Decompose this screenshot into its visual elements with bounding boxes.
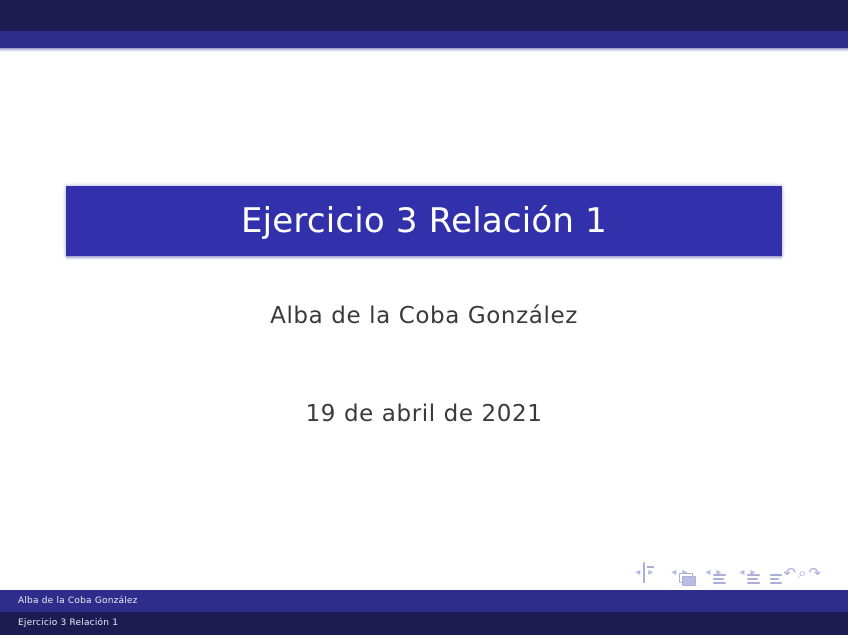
- subsection-navigation-group[interactable]: ◂ ▸: [702, 568, 724, 578]
- title-box: Ejercicio 3 Relación 1: [66, 186, 782, 256]
- back-icon[interactable]: ↶: [782, 566, 797, 581]
- footer-title-text: Ejercicio 3 Relación 1: [18, 618, 118, 628]
- title-box-shadow: [66, 256, 782, 260]
- beamer-navigation-symbols[interactable]: ◂ ▸ ◂ ▸ ◂ ▸ ◂ ▸ ↶ ⌕ ↷: [632, 563, 834, 583]
- slide-next-icon[interactable]: ▸: [645, 568, 656, 578]
- slide-icon[interactable]: [643, 565, 645, 581]
- frame-prev-icon[interactable]: ◂: [668, 568, 679, 578]
- frame-navigation-group[interactable]: ◂ ▸: [668, 568, 690, 578]
- presentation-date: 19 de abril de 2021: [0, 401, 848, 427]
- subsection-next-icon[interactable]: ▸: [713, 568, 724, 578]
- title-block: Ejercicio 3 Relación 1: [66, 186, 782, 258]
- page-title: Ejercicio 3 Relación 1: [66, 186, 782, 256]
- beamer-title-slide: Ejercicio 3 Relación 1 Alba de la Coba G…: [0, 0, 848, 635]
- slide-footer-bar: Alba de la Coba González Ejercicio 3 Rel…: [0, 590, 848, 635]
- search-icon[interactable]: ⌕: [797, 566, 807, 581]
- slide-prev-icon[interactable]: ◂: [632, 568, 643, 578]
- section-prev-icon[interactable]: ◂: [736, 568, 747, 578]
- slide-navigation-group[interactable]: ◂ ▸: [632, 565, 656, 581]
- subsection-prev-icon[interactable]: ◂: [702, 568, 713, 578]
- footer-title-band: [0, 612, 848, 635]
- history-navigation-group[interactable]: ↶ ⌕ ↷: [782, 566, 822, 581]
- forward-icon[interactable]: ↷: [807, 566, 822, 581]
- header-dark-band: [0, 0, 848, 31]
- footer-author-text: Alba de la Coba González: [18, 596, 138, 606]
- slide-header-bar: [0, 0, 848, 51]
- author-name: Alba de la Coba González: [0, 303, 848, 329]
- header-light-band: [0, 31, 848, 48]
- section-navigation-group[interactable]: ◂ ▸: [736, 568, 758, 578]
- section-next-icon[interactable]: ▸: [747, 568, 758, 578]
- header-shadow-fade: [0, 48, 848, 52]
